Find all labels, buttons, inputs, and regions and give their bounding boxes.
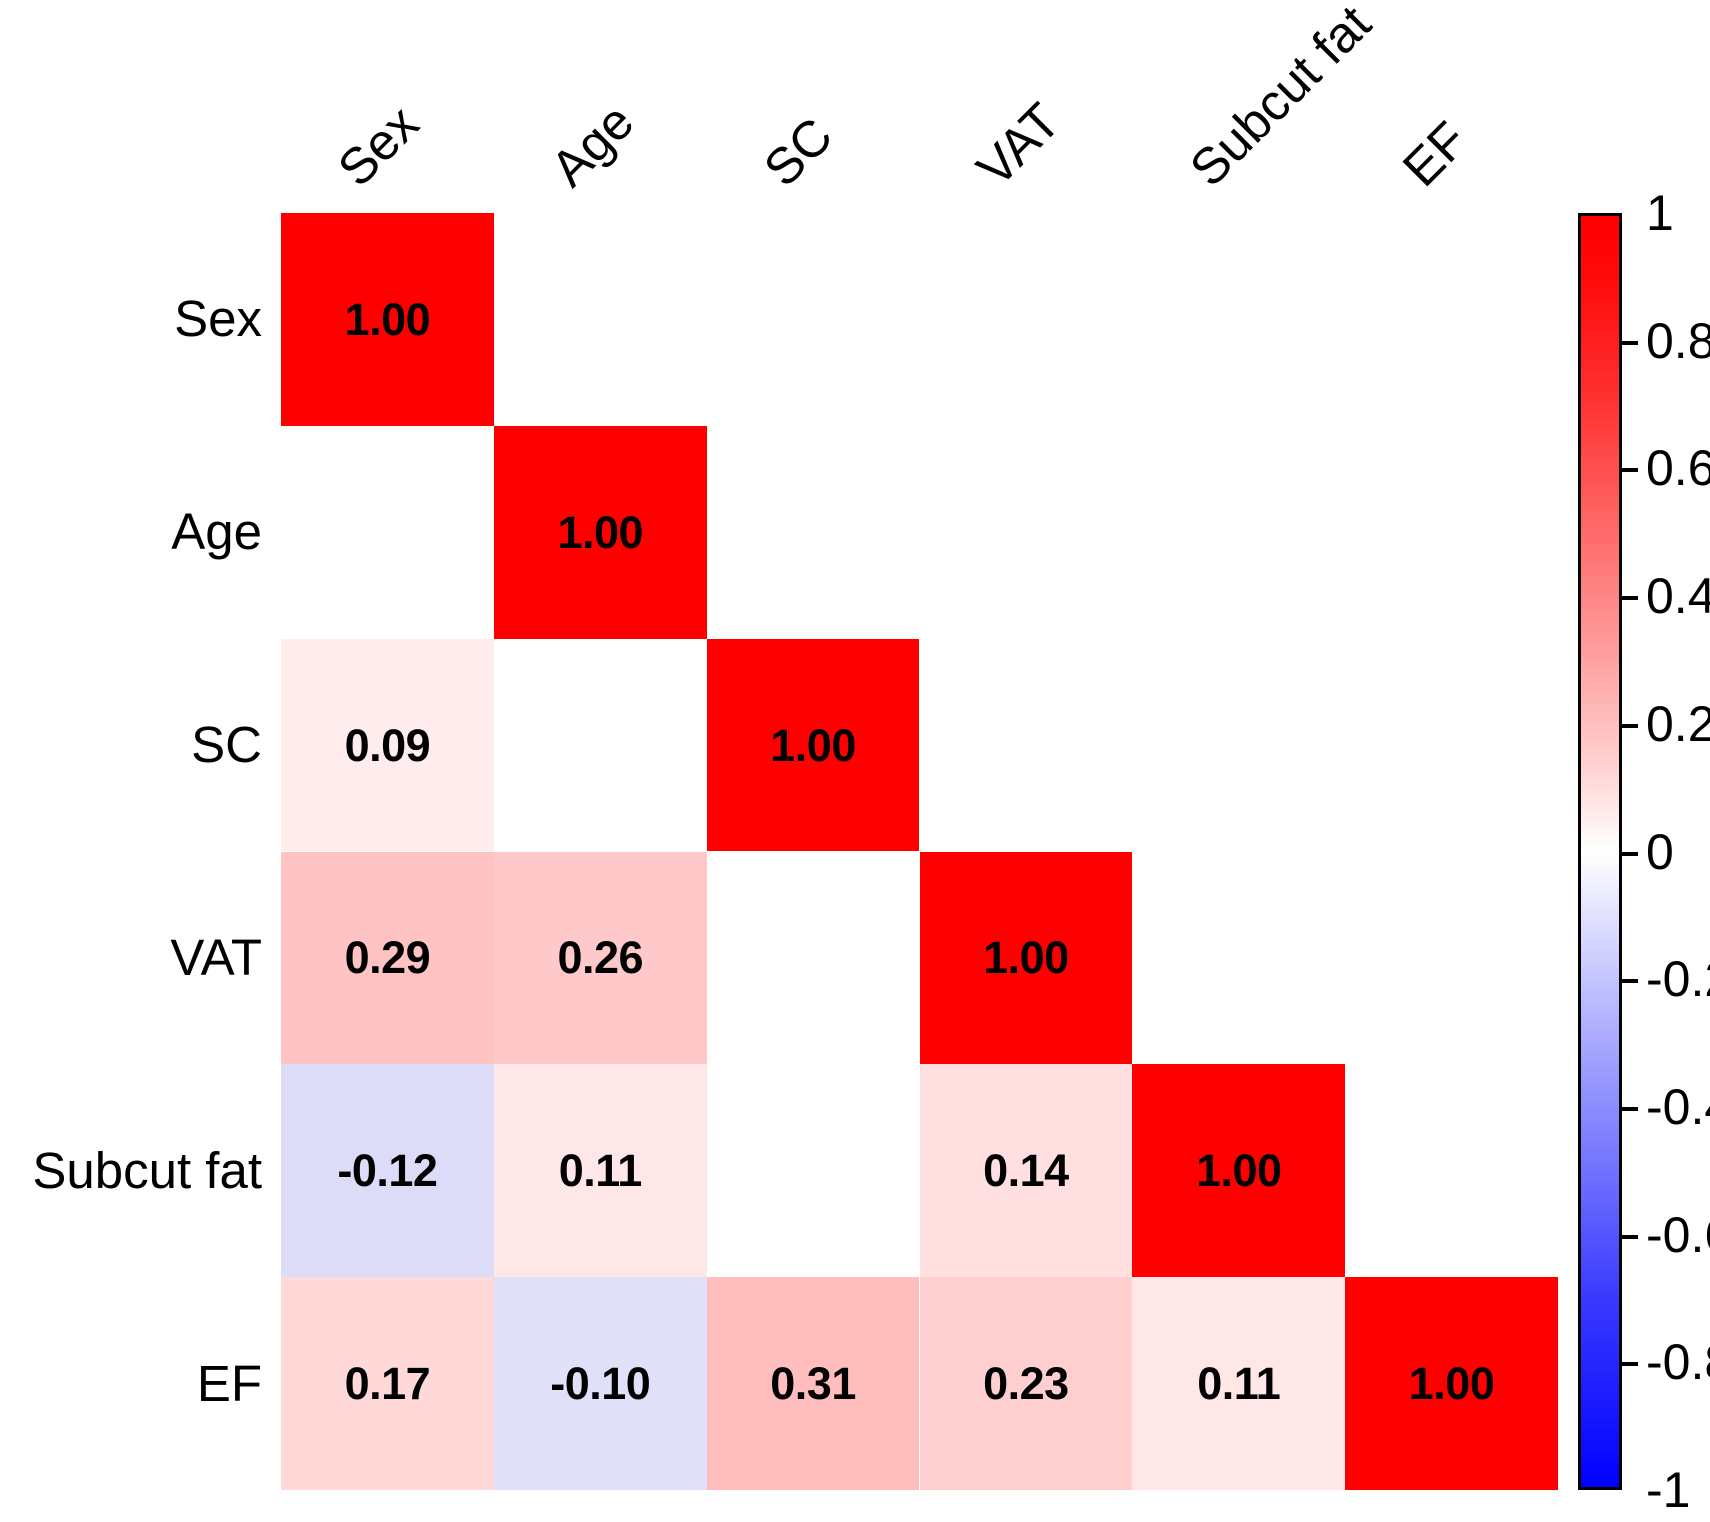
correlation-matrix-figure: 1.001.000.091.000.290.261.00-0.120.110.1… <box>0 0 1710 1522</box>
heatmap-cell-value: -0.12 <box>337 1148 437 1193</box>
heatmap-cell-value: 0.26 <box>557 935 643 980</box>
colorbar-tick <box>1622 596 1638 600</box>
colorbar-gradient <box>1578 213 1622 1490</box>
colorbar-legend: 10.80.60.40.20-0.2-0.4-0.6-0.8-1 <box>1578 213 1622 1490</box>
column-label-ef: EF <box>1394 113 1476 195</box>
column-label-vat: VAT <box>968 94 1069 195</box>
heatmap-cell <box>494 639 707 852</box>
heatmap-cell <box>707 426 920 639</box>
heatmap-cell-value: 1.00 <box>770 723 856 768</box>
heatmap-cell <box>1345 426 1558 639</box>
heatmap-cell-value: 0.17 <box>345 1361 431 1406</box>
heatmap-cell-value: 0.23 <box>983 1361 1069 1406</box>
heatmap-cell: 1.00 <box>1132 1064 1345 1277</box>
column-label-sex: Sex <box>329 97 427 195</box>
colorbar-tick <box>1622 852 1638 856</box>
heatmap-cell <box>707 852 920 1065</box>
colorbar-tick <box>1622 979 1638 983</box>
row-label-sex: Sex <box>0 293 262 344</box>
colorbar-tick <box>1622 468 1638 472</box>
colorbar-tick <box>1622 1107 1638 1111</box>
heatmap-cell: 1.00 <box>1345 1277 1558 1490</box>
heatmap-cell-value: -0.10 <box>550 1361 650 1406</box>
heatmap-cell: 0.17 <box>281 1277 494 1490</box>
heatmap-cell: 1.00 <box>920 852 1133 1065</box>
heatmap-cell <box>920 426 1133 639</box>
heatmap-cell-value: 0.09 <box>345 723 431 768</box>
colorbar-tick-label: -1 <box>1646 1465 1690 1515</box>
colorbar-tick <box>1622 341 1638 345</box>
heatmap-cell: 1.00 <box>281 213 494 426</box>
column-label-age: Age <box>542 95 642 195</box>
colorbar-tick-label: 1 <box>1646 188 1674 238</box>
colorbar-tick-label: 0.8 <box>1646 316 1710 366</box>
colorbar-tick-label: 0.4 <box>1646 571 1710 621</box>
heatmap-cell: 0.14 <box>920 1064 1133 1277</box>
heatmap-cell <box>1132 639 1345 852</box>
row-label-subcut-fat: Subcut fat <box>0 1145 262 1196</box>
heatmap-cell-value: 0.31 <box>770 1361 856 1406</box>
heatmap-cell <box>1132 426 1345 639</box>
row-label-age: Age <box>0 506 262 557</box>
colorbar-tick-label: -0.6 <box>1646 1210 1710 1260</box>
heatmap-cell: 1.00 <box>707 639 920 852</box>
heatmap-cell-value: 1.00 <box>345 297 431 342</box>
row-label-ef: EF <box>0 1358 262 1409</box>
heatmap-cell <box>1345 1064 1558 1277</box>
heatmap-cell <box>707 213 920 426</box>
row-label-sc: SC <box>0 719 262 770</box>
colorbar-tick <box>1622 1362 1638 1366</box>
heatmap-cell: 0.23 <box>920 1277 1133 1490</box>
heatmap-grid: 1.001.000.091.000.290.261.00-0.120.110.1… <box>281 213 1558 1490</box>
heatmap-cell-value: 0.14 <box>983 1148 1069 1193</box>
heatmap-cell <box>1132 213 1345 426</box>
row-label-vat: VAT <box>0 932 262 983</box>
heatmap-cell-value: 1.00 <box>557 510 643 555</box>
colorbar-tick-label: -0.8 <box>1646 1337 1710 1387</box>
heatmap-cell-value: 1.00 <box>1196 1148 1282 1193</box>
heatmap-cell: 1.00 <box>494 426 707 639</box>
heatmap-cell <box>1132 852 1345 1065</box>
colorbar-tick-label: 0 <box>1646 827 1674 877</box>
heatmap-cell <box>920 639 1133 852</box>
heatmap-cell: 0.29 <box>281 852 494 1065</box>
heatmap-cell-value: 1.00 <box>1409 1361 1495 1406</box>
heatmap-cell: 0.31 <box>707 1277 920 1490</box>
heatmap-cell: -0.10 <box>494 1277 707 1490</box>
colorbar-tick <box>1622 724 1638 728</box>
heatmap-cell: 0.11 <box>494 1064 707 1277</box>
heatmap-cell: 0.26 <box>494 852 707 1065</box>
colorbar-tick-label: 0.6 <box>1646 443 1710 493</box>
heatmap-cell <box>494 213 707 426</box>
heatmap-cell-value: 1.00 <box>983 935 1069 980</box>
heatmap-cell <box>707 1064 920 1277</box>
colorbar-tick-label: 0.2 <box>1646 699 1710 749</box>
heatmap-cell: 0.09 <box>281 639 494 852</box>
column-label-subcut-fat: Subcut fat <box>1181 0 1379 195</box>
heatmap-cell-value: 0.11 <box>559 1148 642 1193</box>
heatmap-cell <box>920 213 1133 426</box>
colorbar-tick-label: -0.4 <box>1646 1082 1710 1132</box>
heatmap-cell-value: 0.29 <box>345 935 431 980</box>
colorbar-tick <box>1622 1235 1638 1239</box>
heatmap-cell <box>281 426 494 639</box>
column-label-sc: SC <box>755 109 841 195</box>
colorbar-tick-label: -0.2 <box>1646 954 1710 1004</box>
heatmap-cell: 0.11 <box>1132 1277 1345 1490</box>
heatmap-cell <box>1345 852 1558 1065</box>
heatmap-cell: -0.12 <box>281 1064 494 1277</box>
heatmap-cell-value: 0.11 <box>1197 1361 1280 1406</box>
heatmap-cell <box>1345 639 1558 852</box>
heatmap-cell <box>1345 213 1558 426</box>
